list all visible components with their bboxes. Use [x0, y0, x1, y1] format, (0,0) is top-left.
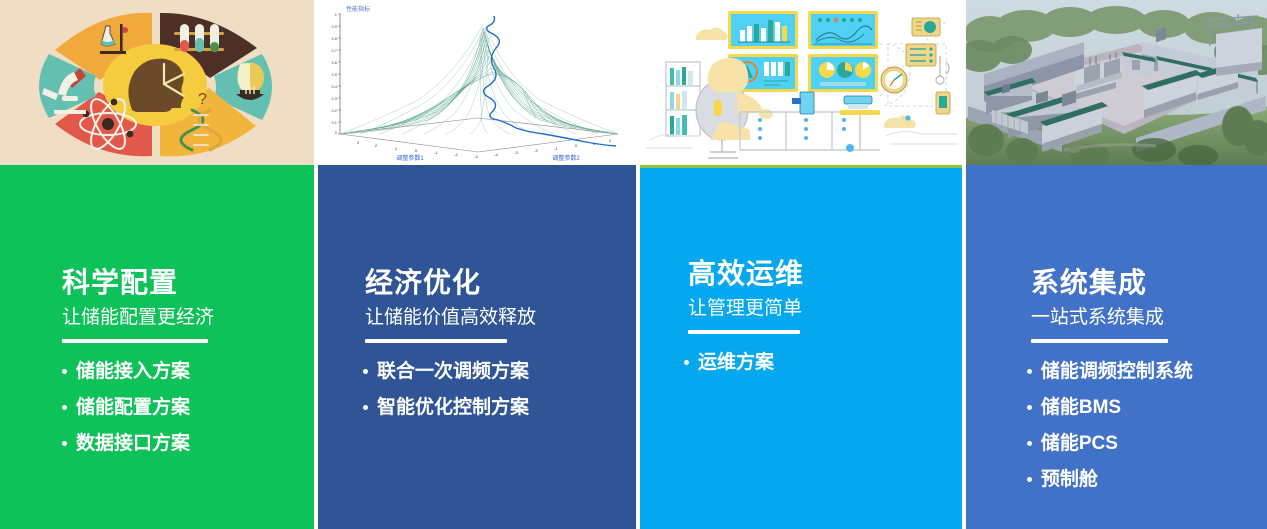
bullet-dot-icon [363, 369, 368, 374]
station-render-svg [966, 0, 1267, 165]
chart-zlabel: 调整参数2 [552, 154, 580, 162]
panel-subtitle: 让管理更简单 [688, 298, 962, 320]
list-item[interactable]: 储能接入方案 [62, 362, 314, 381]
list-item-label: 储能接入方案 [76, 362, 190, 381]
feature-panels-board: ? [0, 0, 1267, 529]
list-item-label: 预制舱 [1041, 470, 1098, 489]
list-item[interactable]: 储能配置方案 [62, 398, 314, 417]
monitoring-room-svg [640, 0, 962, 165]
bullet-dot-icon [1027, 477, 1032, 482]
panel-solution-list: 运维方案 [684, 353, 962, 372]
panel-divider [1031, 339, 1168, 343]
panel-subtitle: 一站式系统集成 [1031, 307, 1267, 329]
list-item[interactable]: 储能调频控制系统 [1027, 362, 1267, 381]
panel-title: 经济优化 [365, 267, 636, 298]
svg-text:0.6: 0.6 [331, 60, 337, 65]
monitoring-room-illustration [640, 0, 962, 165]
column-economy: 10.9 0.80.7 0.60.5 0.40.3 0.20.1 0 [318, 0, 636, 529]
list-item[interactable]: 预制舱 [1027, 470, 1267, 489]
svg-text:0.1: 0.1 [331, 120, 337, 125]
list-item[interactable]: 运维方案 [684, 353, 962, 372]
svg-text:?: ? [198, 91, 207, 108]
svg-text:0.3: 0.3 [331, 96, 337, 101]
svg-text:0.2: 0.2 [331, 108, 337, 113]
list-item-label: 储能PCS [1041, 434, 1118, 453]
list-item-label: 数据接口方案 [76, 434, 190, 453]
chart-ylabel: 性能指标 [346, 5, 370, 13]
panel-title: 科学配置 [62, 267, 314, 298]
panel-system-integration[interactable]: 系统集成 一站式系统集成 储能调频控制系统 储能BMS 储能PCS 预制舱 [966, 165, 1267, 529]
list-item[interactable]: 数据接口方案 [62, 434, 314, 453]
panel-divider [62, 339, 208, 343]
panel-solution-list: 储能调频控制系统 储能BMS 储能PCS 预制舱 [1027, 362, 1267, 489]
list-item-label: 储能BMS [1041, 398, 1121, 417]
panel-economic-optimization[interactable]: 经济优化 让储能价值高效释放 联合一次调频方案 智能优化控制方案 [318, 165, 636, 529]
panel-solution-list: 联合一次调频方案 智能优化控制方案 [363, 362, 636, 417]
chart-xlabel: 调整参数1 [396, 154, 424, 162]
svg-text:0.7: 0.7 [331, 48, 337, 53]
science-wheel-svg: ? [14, 2, 294, 162]
panel-divider [688, 330, 800, 334]
panel-efficient-operations[interactable]: 高效运维 让管理更简单 运维方案 [640, 165, 962, 529]
bullet-dot-icon [1027, 369, 1032, 374]
panel-solution-list: 储能接入方案 储能配置方案 数据接口方案 [62, 362, 314, 453]
bullet-dot-icon [62, 369, 67, 374]
bullet-dot-icon [62, 441, 67, 446]
column-integration: 系统集成 一站式系统集成 储能调频控制系统 储能BMS 储能PCS 预制舱 [966, 0, 1267, 529]
svg-text:0.8: 0.8 [331, 36, 337, 41]
svg-text:0.9: 0.9 [331, 24, 337, 29]
list-item[interactable]: 储能BMS [1027, 398, 1267, 417]
list-item-label: 智能优化控制方案 [377, 398, 529, 417]
energy-storage-station-render [966, 0, 1267, 165]
panel-subtitle: 让储能价值高效释放 [365, 307, 636, 329]
svg-text:0.5: 0.5 [331, 72, 337, 77]
bullet-dot-icon [684, 360, 689, 365]
surface-plot-svg: 10.9 0.80.7 0.60.5 0.40.3 0.20.1 0 [318, 0, 636, 165]
list-item-label: 运维方案 [698, 353, 774, 372]
svg-text:0.4: 0.4 [331, 84, 337, 89]
column-operations: 高效运维 让管理更简单 运维方案 [640, 0, 962, 529]
performance-surface-plot: 10.9 0.80.7 0.60.5 0.40.3 0.20.1 0 [318, 0, 636, 165]
column-science: ? [0, 0, 314, 529]
panel-title: 系统集成 [1031, 267, 1267, 298]
list-item[interactable]: 联合一次调频方案 [363, 362, 636, 381]
list-item[interactable]: 储能PCS [1027, 434, 1267, 453]
panel-divider [365, 339, 507, 343]
bullet-dot-icon [363, 405, 368, 410]
bullet-dot-icon [1027, 405, 1032, 410]
panel-subtitle: 让储能配置更经济 [62, 307, 314, 329]
panel-title: 高效运维 [688, 258, 962, 289]
bullet-dot-icon [1027, 441, 1032, 446]
panel-science-configuration[interactable]: 科学配置 让储能配置更经济 储能接入方案 储能配置方案 数据接口方案 [0, 165, 314, 529]
list-item-label: 储能调频控制系统 [1041, 362, 1193, 381]
list-item-label: 联合一次调频方案 [377, 362, 529, 381]
science-wheel-illustration: ? [0, 0, 314, 165]
list-item-label: 储能配置方案 [76, 398, 190, 417]
bullet-dot-icon [62, 405, 67, 410]
list-item[interactable]: 智能优化控制方案 [363, 398, 636, 417]
